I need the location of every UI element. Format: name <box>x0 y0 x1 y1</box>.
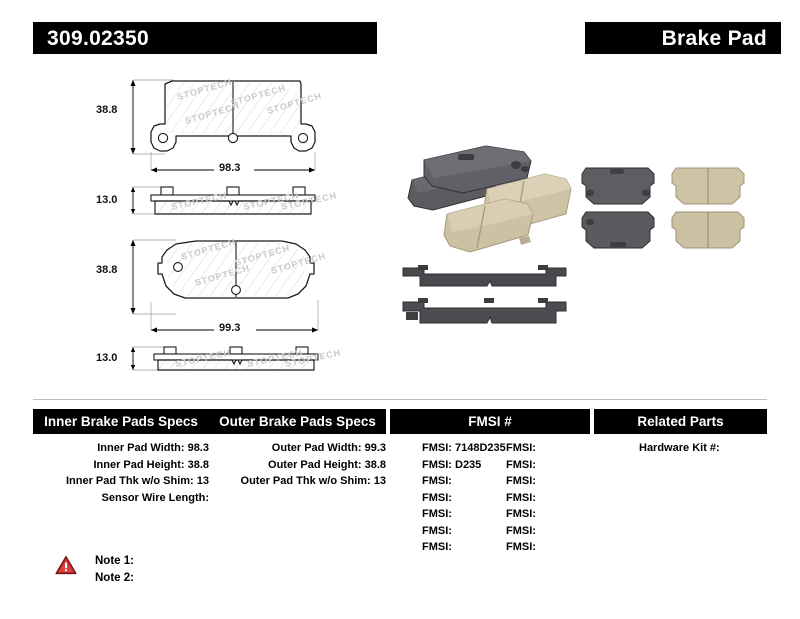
fmsi-item: FMSI: <box>422 473 506 490</box>
outer-pad-width-dimension: 99.3 <box>219 322 240 334</box>
outer-pad-thickness-dimension: 13.0 <box>96 352 117 364</box>
fmsi-item: FMSI: <box>506 473 590 490</box>
related-parts-list: Hardware Kit #: <box>594 440 767 457</box>
product-type-header-bar: Brake Pad <box>585 22 781 54</box>
fmsi-item: FMSI: <box>506 440 590 457</box>
fmsi-list: FMSI: 7148D235 FMSI: D235 FMSI: FMSI: FM… <box>390 440 590 556</box>
fmsi-item: FMSI: 7148D235 <box>422 440 506 457</box>
column-header-inner-specs: Inner Brake Pads Specs <box>33 409 209 434</box>
product-type: Brake Pad <box>662 28 767 49</box>
two-pads-edge-photo <box>403 265 566 323</box>
fmsi-column-right: FMSI: FMSI: FMSI: FMSI: FMSI: FMSI: FMSI… <box>506 440 590 556</box>
warning-triangle-icon <box>55 555 77 575</box>
drawings-svg: STOPTECH <box>0 62 800 392</box>
notes-text: Note 1: Note 2: <box>95 553 134 587</box>
fmsi-item: FMSI: <box>422 539 506 556</box>
fmsi-item: FMSI: <box>422 523 506 540</box>
technical-drawings-region: STOPTECH <box>0 62 800 392</box>
notes-section: Note 1: Note 2: <box>55 553 134 587</box>
spec-item: Sensor Wire Length: <box>33 490 209 507</box>
spec-item: Inner Pad Width: 98.3 <box>33 440 209 457</box>
spec-item: Outer Pad Width: 99.3 <box>209 440 386 457</box>
note-line: Note 1: <box>95 553 134 570</box>
column-header-outer-specs: Outer Brake Pads Specs <box>209 409 386 434</box>
inner-specs-list: Inner Pad Width: 98.3 Inner Pad Height: … <box>33 440 209 506</box>
inner-pad-width-dimension: 98.3 <box>219 162 240 174</box>
spec-item: Inner Pad Thk w/o Shim: 13 <box>33 473 209 490</box>
section-divider <box>33 399 767 400</box>
spec-item: Outer Pad Thk w/o Shim: 13 <box>209 473 386 490</box>
note-line: Note 2: <box>95 570 134 587</box>
fmsi-item: FMSI: D235 <box>422 457 506 474</box>
fmsi-item: FMSI: <box>506 490 590 507</box>
spec-item: Outer Pad Height: 38.8 <box>209 457 386 474</box>
fmsi-item: FMSI: <box>422 490 506 507</box>
specs-table: Inner Brake Pads Specs Outer Brake Pads … <box>33 409 767 554</box>
four-pads-angled-photo <box>408 146 571 252</box>
column-header-related-parts: Related Parts <box>594 409 767 434</box>
fmsi-column-left: FMSI: 7148D235 FMSI: D235 FMSI: FMSI: FM… <box>422 440 506 556</box>
fmsi-item: FMSI: <box>506 523 590 540</box>
fmsi-item: FMSI: <box>506 539 590 556</box>
inner-pad-height-dimension: 38.8 <box>96 104 117 116</box>
fmsi-item: FMSI: <box>506 506 590 523</box>
part-number-header-bar: 309.02350 <box>33 22 377 54</box>
related-part-item: Hardware Kit #: <box>594 440 767 457</box>
spec-sheet-page: 309.02350 Brake Pad STOPTECH <box>0 0 800 619</box>
outer-pad-height-dimension: 38.8 <box>96 264 117 276</box>
fmsi-item: FMSI: <box>506 457 590 474</box>
table-body-row: Inner Pad Width: 98.3 Inner Pad Height: … <box>33 434 767 554</box>
table-header-row: Inner Brake Pads Specs Outer Brake Pads … <box>33 409 767 434</box>
inner-pad-profile-drawing <box>131 187 338 214</box>
column-header-fmsi: FMSI # <box>390 409 590 434</box>
outer-pad-profile-drawing <box>131 347 342 370</box>
outer-specs-list: Outer Pad Width: 99.3 Outer Pad Height: … <box>209 440 386 490</box>
inner-pad-thickness-dimension: 13.0 <box>96 194 117 206</box>
spec-item: Inner Pad Height: 38.8 <box>33 457 209 474</box>
four-pads-flat-photo <box>582 168 744 248</box>
part-number: 309.02350 <box>47 28 149 49</box>
fmsi-item: FMSI: <box>422 506 506 523</box>
